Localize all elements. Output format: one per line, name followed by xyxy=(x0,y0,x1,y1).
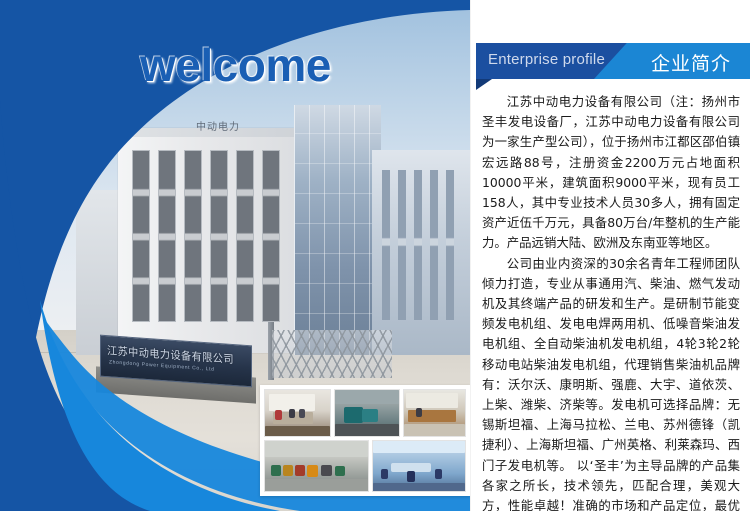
conference-room-photo xyxy=(372,440,466,492)
profile-paragraph-1: 江苏中动电力设备有限公司（注：扬州市圣丰发电设备厂，江苏中动电力设备有限公司为一… xyxy=(482,92,740,254)
banner-english-label: Enterprise profile xyxy=(488,51,605,68)
office-reception-photo xyxy=(403,389,466,437)
photo-collage xyxy=(260,385,470,496)
banner-chinese-label: 企业简介 xyxy=(651,49,731,76)
welcome-headline: welcome xyxy=(140,38,331,92)
office-meeting-photo xyxy=(264,389,331,437)
company-profile-banner: 中动电力 江苏中动电力 xyxy=(0,0,750,511)
generator-workshop-photo xyxy=(334,389,401,437)
panel-left-edge xyxy=(470,0,471,511)
right-text-panel: Enterprise profile 企业简介 江苏中动电力设备有限公司（注：扬… xyxy=(470,0,750,511)
banner-tail-shape xyxy=(476,79,492,90)
profile-paragraph-2: 公司由业内资深的30余名青年工程师团队倾力打造，专业从事通用汽、柴油、燃气发动机… xyxy=(482,254,740,511)
collage-bottom-row xyxy=(264,440,466,492)
enterprise-profile-banner: Enterprise profile 企业简介 xyxy=(476,43,750,79)
company-profile-text: 江苏中动电力设备有限公司（注：扬州市圣丰发电设备厂，江苏中动电力设备有限公司为一… xyxy=(482,92,740,511)
left-image-panel: 中动电力 江苏中动电力 xyxy=(0,0,470,511)
collage-top-row xyxy=(264,389,466,437)
generator-assembly-line-photo xyxy=(264,440,369,492)
